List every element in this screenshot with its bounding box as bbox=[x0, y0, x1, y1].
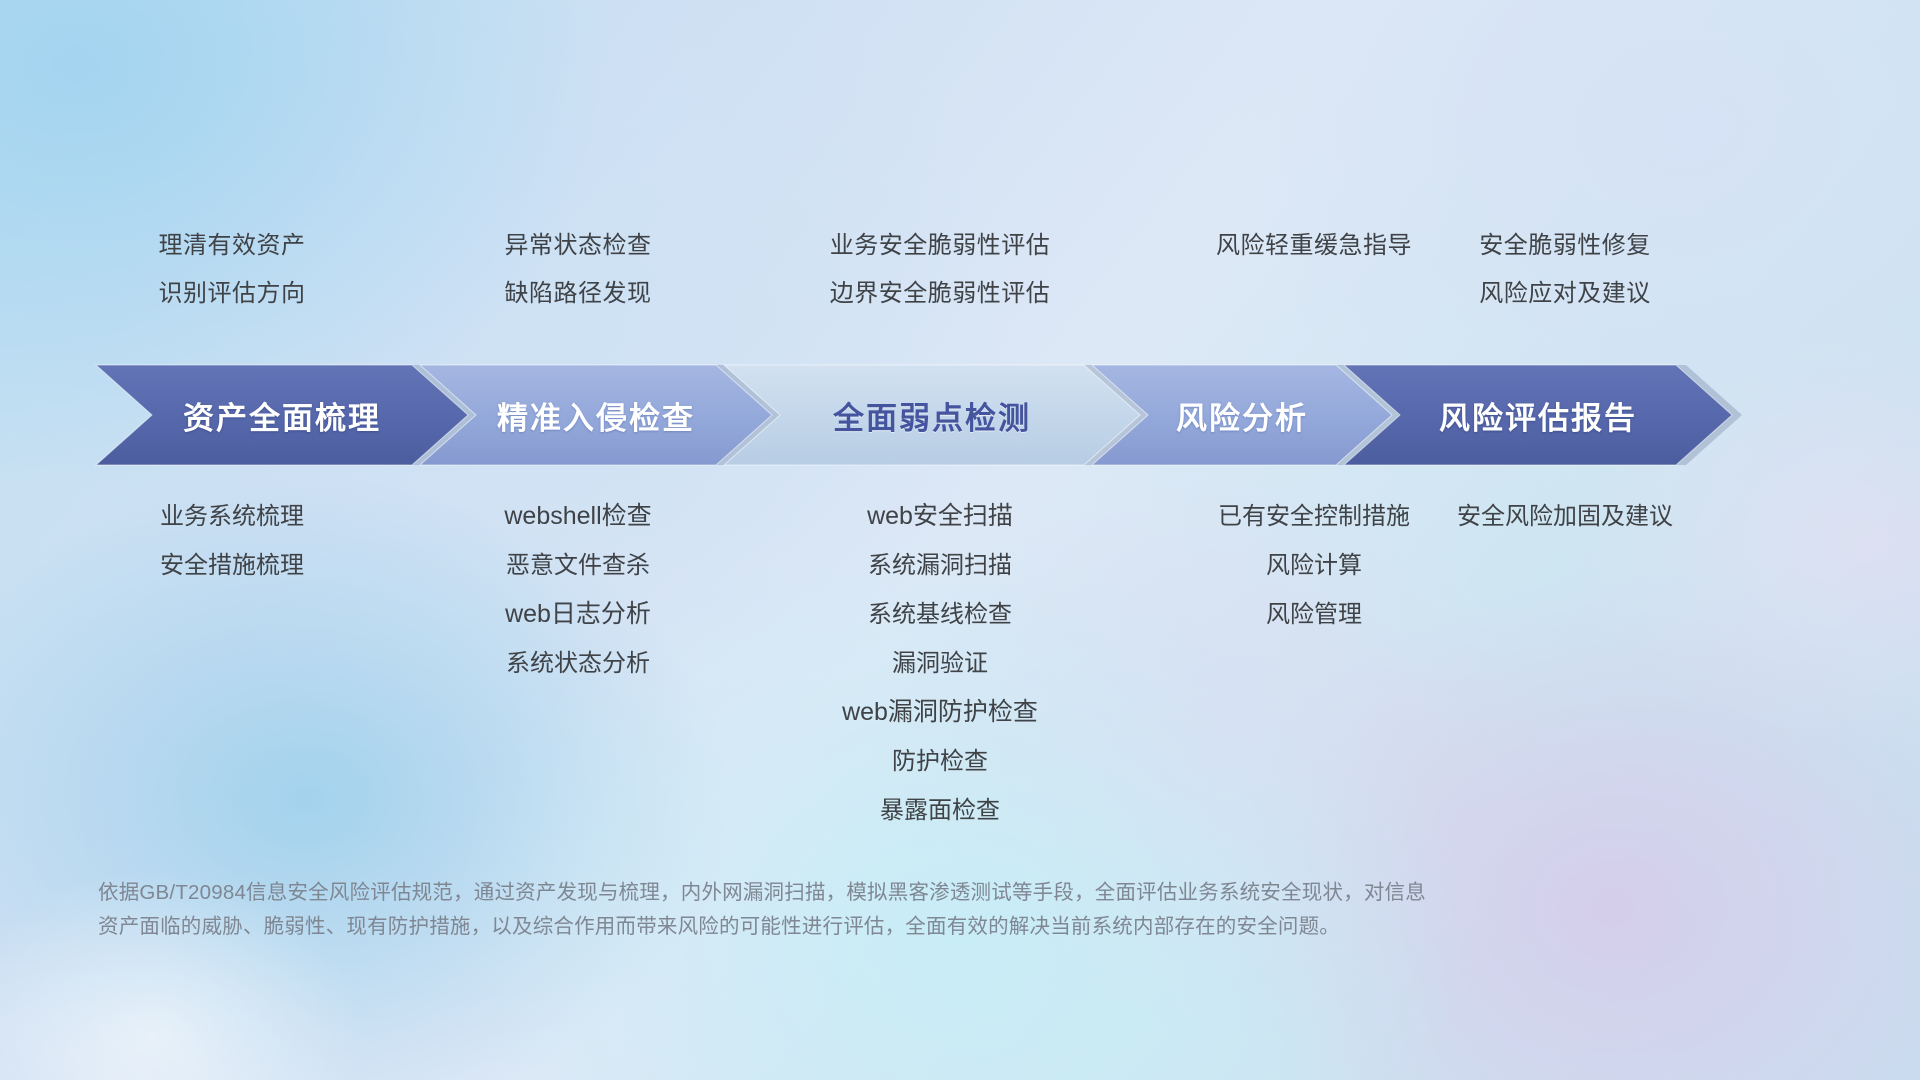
stage-title: 风险评估报告 bbox=[1439, 393, 1637, 438]
process-stage-3[interactable]: 全面弱点检测 bbox=[724, 365, 1140, 465]
detail-list-item: 暴露面检查 bbox=[710, 786, 1170, 835]
detail-list-item: 漏洞验证 bbox=[710, 639, 1170, 688]
detail-list-item: 风险管理 bbox=[1084, 590, 1544, 639]
top-caption-item: 安全脆弱性修复 bbox=[1345, 222, 1785, 270]
detail-list-item: web漏洞防护检查 bbox=[710, 688, 1170, 737]
stage-title: 全面弱点检测 bbox=[833, 393, 1031, 438]
detail-list-stage-5: 安全风险加固及建议 bbox=[1335, 492, 1795, 541]
process-stage-1[interactable]: 资产全面梳理 bbox=[96, 365, 468, 465]
process-chevron-band: 资产全面梳理 精准入侵检查 全面弱点检测 bbox=[0, 365, 1920, 465]
detail-list-item: 风险计算 bbox=[1084, 541, 1544, 590]
top-captions-row: 理清有效资产识别评估方向异常状态检查缺陷路径发现业务安全脆弱性评估边界安全脆弱性… bbox=[0, 222, 1920, 332]
top-caption-item: 风险应对及建议 bbox=[1345, 270, 1785, 318]
detail-list-item: 安全风险加固及建议 bbox=[1335, 492, 1795, 541]
footer-line-1: 依据GB/T20984信息安全风险评估规范，通过资产发现与梳理，内外网漏洞扫描，… bbox=[98, 876, 1598, 910]
process-stage-2[interactable]: 精准入侵检查 bbox=[420, 365, 772, 465]
detail-list-item: 防护检查 bbox=[710, 737, 1170, 786]
top-caption-item: 边界安全脆弱性评估 bbox=[720, 270, 1160, 318]
process-stage-5[interactable]: 风险评估报告 bbox=[1344, 365, 1732, 465]
stage-title: 精准入侵检查 bbox=[497, 393, 695, 438]
footer-line-2: 资产面临的威胁、脆弱性、现有防护措施，以及综合作用而带来风险的可能性进行评估，全… bbox=[98, 910, 1598, 944]
slide-canvas: 理清有效资产识别评估方向异常状态检查缺陷路径发现业务安全脆弱性评估边界安全脆弱性… bbox=[0, 0, 1920, 1080]
top-caption-stage-5: 安全脆弱性修复风险应对及建议 bbox=[1345, 222, 1785, 318]
footer-description: 依据GB/T20984信息安全风险评估规范，通过资产发现与梳理，内外网漏洞扫描，… bbox=[98, 876, 1598, 944]
stage-title: 资产全面梳理 bbox=[183, 393, 381, 438]
stage-title: 风险分析 bbox=[1176, 393, 1308, 438]
